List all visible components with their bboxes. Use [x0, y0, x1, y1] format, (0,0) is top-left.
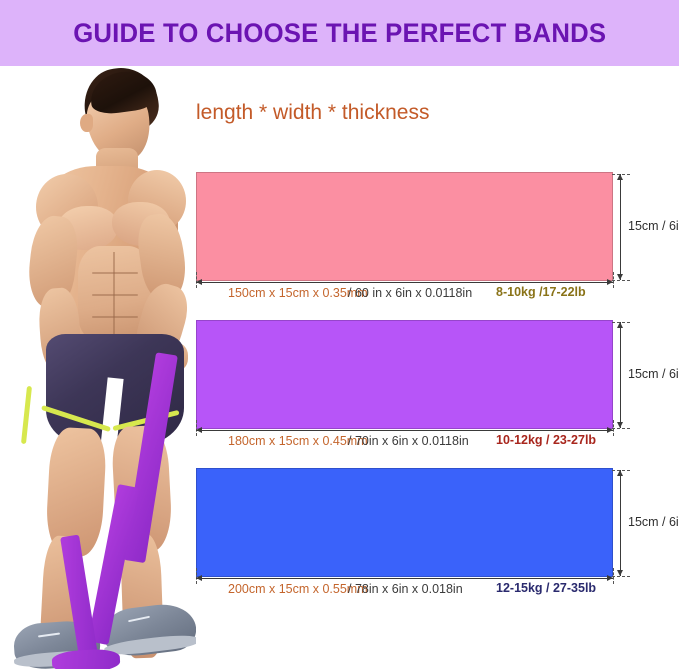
band-height-label-1: 15cm / 6in: [628, 219, 679, 233]
band-swatch-pink: [196, 172, 613, 281]
band-metric-label-3: 200cm x 15cm x 0.55mm: [228, 582, 368, 596]
length-dimension-line-3: [196, 578, 613, 579]
ab-crease-2: [92, 294, 138, 296]
ab-crease-3: [92, 316, 138, 318]
band-specs-row-3: 200cm x 15cm x 0.55mm / 78in x 6in x 0.0…: [196, 582, 613, 598]
band-resistance-label-3: 12-15kg / 27-35lb: [496, 581, 596, 595]
height-dimension-line-2: [620, 322, 621, 428]
band-specs-row-2: 180cm x 15cm x 0.45mm / 70in x 6in x 0.0…: [196, 434, 613, 450]
band-resistance-label-2: 10-12kg / 23-27lb: [496, 433, 596, 447]
band-height-label-3: 15cm / 6in: [628, 515, 679, 529]
band-imperial-label-1: / 60 in x 6in x 0.0118in: [348, 286, 472, 300]
band-metric-label-2: 180cm x 15cm x 0.45mm: [228, 434, 368, 448]
model-photo: [0, 66, 196, 669]
shorts-trim-side: [21, 386, 32, 444]
height-tick-bottom-2: [612, 428, 630, 430]
ear-shape: [80, 114, 93, 132]
band-resistance-label-1: 8-10kg /17-22lb: [496, 285, 586, 299]
length-dimension-line-1: [196, 282, 613, 283]
band-imperial-label-2: / 70in x 6in x 0.0118in: [348, 434, 469, 448]
height-tick-bottom-3: [612, 576, 630, 578]
band-metric-label-1: 150cm x 15cm x 0.35mm: [228, 286, 368, 300]
dimension-formula-label: length * width * thickness: [196, 101, 429, 125]
height-dimension-line-3: [620, 470, 621, 576]
band-swatch-blue: [196, 468, 613, 577]
band-specs-row-1: 150cm x 15cm x 0.35mm / 60 in x 6in x 0.…: [196, 286, 613, 302]
band-height-label-2: 15cm / 6in: [628, 367, 679, 381]
infographic-page: GUIDE TO CHOOSE THE PERFECT BANDS length…: [0, 0, 679, 669]
band-imperial-label-3: / 78in x 6in x 0.018in: [348, 582, 463, 596]
header-banner: GUIDE TO CHOOSE THE PERFECT BANDS: [0, 0, 679, 66]
band-swatch-purple: [196, 320, 613, 429]
page-title: GUIDE TO CHOOSE THE PERFECT BANDS: [73, 18, 606, 49]
height-tick-bottom-1: [612, 280, 630, 282]
height-dimension-line-1: [620, 174, 621, 280]
ab-midline: [113, 252, 115, 336]
length-dimension-line-2: [196, 430, 613, 431]
ab-crease-1: [92, 272, 138, 274]
